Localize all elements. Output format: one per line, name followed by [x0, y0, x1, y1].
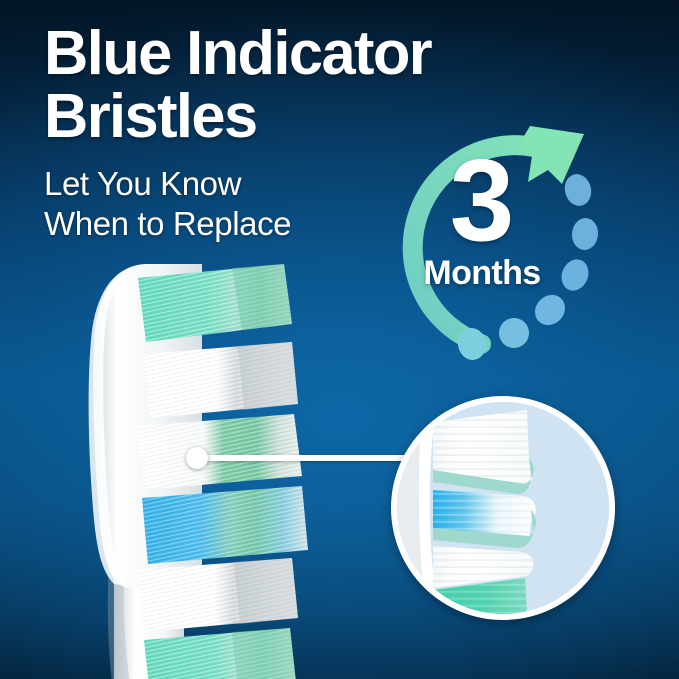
page-title-line-1: Blue Indicator: [44, 24, 569, 85]
arc-stroke: [413, 145, 549, 344]
magnifier-content: [397, 402, 609, 614]
trail-dot-3: [557, 255, 593, 294]
toothbrush-svg: [52, 258, 392, 679]
mag-row-white-1: [433, 410, 534, 494]
callout-anchor-dot: [186, 447, 208, 469]
magnified-detail-circle: [391, 396, 615, 620]
bristle-row-white-upper: [144, 342, 298, 418]
trail-dot-5: [494, 313, 535, 354]
toothbrush-head-illustration: [52, 258, 392, 679]
circular-arrow-icon: [372, 112, 612, 352]
bristle-row-white-lower: [138, 558, 298, 632]
trail-dot-4: [529, 289, 571, 331]
bristle-row-white-green: [138, 414, 302, 490]
mag-row-blue-indicator: [433, 490, 536, 548]
replace-interval-badge: 3 Months: [372, 112, 612, 347]
magnified-bristles: [397, 402, 609, 614]
trail-dot-2: [570, 217, 599, 252]
trail-dot-1: [562, 171, 595, 208]
bristle-row-blue-indicator: [142, 486, 308, 564]
product-feature-graphic: Blue Indicator Bristles Let You Know Whe…: [0, 0, 679, 679]
dot-trail: [455, 171, 599, 362]
